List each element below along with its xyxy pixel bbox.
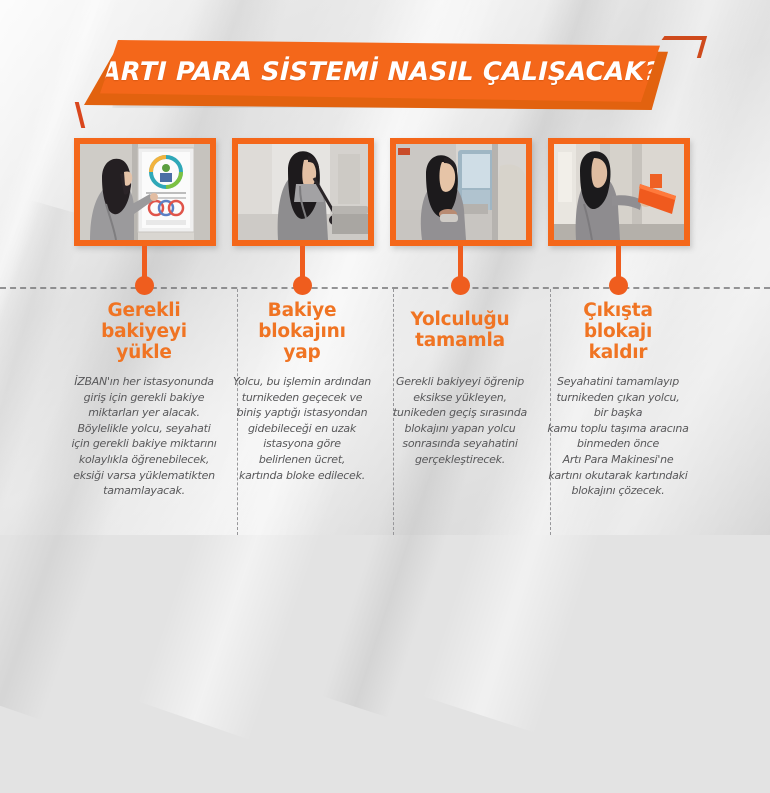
step-column-2: Bakiye blokajını yap Yolcu, bu işlemin a…: [224, 0, 380, 535]
connector-dot-1: [135, 276, 154, 295]
step-heading-line: Bakiye: [224, 300, 380, 321]
step-heading-line: Gerekli: [66, 300, 222, 321]
step-heading-line: yap: [224, 342, 380, 363]
step-heading-4: Çıkışta blokajı kaldır: [540, 300, 696, 363]
woman-at-ticket-machine-icon: [554, 144, 684, 240]
step-heading-line: Yolculuğu: [382, 309, 538, 330]
step-column-4: Çıkışta blokajı kaldır Seyahatini tamaml…: [540, 0, 696, 535]
step-heading-line: kaldır: [540, 342, 696, 363]
step-body-line: biniş yaptığı istasyondan: [225, 405, 379, 421]
step-body-line: Seyahatini tamamlayıp: [541, 374, 695, 390]
step-photo-card-4: [548, 138, 690, 246]
step-body-line: kamu toplu taşıma aracına: [541, 421, 695, 437]
step-body-line: giriş için gerekli bakiye: [67, 390, 221, 406]
step-column-3: Yolculuğu tamamla Gerekli bakiyeyi öğren…: [382, 0, 538, 535]
step-heading-line: tamamla: [382, 330, 538, 351]
step-column-1: Gerekli bakiyeyi yükle İZBAN'ın her ista…: [66, 0, 222, 535]
step-heading-1: Gerekli bakiyeyi yükle: [66, 300, 222, 363]
step-photo-card-3: [390, 138, 532, 246]
step-body-4: Seyahatini tamamlayıp turnikeden çıkan y…: [541, 374, 695, 499]
step-photo-1: [80, 144, 210, 240]
step-body-line: bir başka: [541, 405, 695, 421]
step-photo-card-2: [232, 138, 374, 246]
step-body-line: Gerekli bakiyeyi öğrenip: [383, 374, 537, 390]
step-body-line: tamamlayacak.: [67, 483, 221, 499]
woman-walking-through-turnstile-icon: [238, 144, 368, 240]
step-body-line: eksiği varsa yüklematikten: [67, 468, 221, 484]
step-photo-3: [396, 144, 526, 240]
step-body-line: istasyona göre: [225, 436, 379, 452]
step-body-line: Artı Para Makinesi'ne: [541, 452, 695, 468]
step-body-line: kartında bloke edilecek.: [225, 468, 379, 484]
step-heading-line: blokajını: [224, 321, 380, 342]
step-body-line: kolaylıkla öğrenebilecek,: [67, 452, 221, 468]
step-body-line: İZBAN'ın her istasyonunda: [67, 374, 221, 390]
step-body-line: blokajını yapan yolcu: [383, 421, 537, 437]
step-heading-3: Yolculuğu tamamla: [382, 309, 538, 351]
step-body-line: Böylelikle yolcu, seyahati: [67, 421, 221, 437]
step-body-line: belirlenen ücret,: [225, 452, 379, 468]
connector-dot-3: [451, 276, 470, 295]
step-body-line: blokajını çözecek.: [541, 483, 695, 499]
step-body-line: turnikeden geçecek ve: [225, 390, 379, 406]
step-body-line: sonrasında seyahatini: [383, 436, 537, 452]
step-heading-line: Çıkışta: [540, 300, 696, 321]
step-body-line: Yolcu, bu işlemin ardından: [225, 374, 379, 390]
step-heading-line: blokajı: [540, 321, 696, 342]
step-body-line: gerçekleştirecek.: [383, 452, 537, 468]
step-photo-card-1: [74, 138, 216, 246]
step-heading-line: bakiyeyi: [66, 321, 222, 342]
step-photo-2: [238, 144, 368, 240]
step-body-line: eksikse yükleyen,: [383, 390, 537, 406]
step-body-3: Gerekli bakiyeyi öğrenip eksikse yükleye…: [383, 374, 537, 468]
step-body-line: kartını okutarak kartındaki: [541, 468, 695, 484]
connector-dot-2: [293, 276, 312, 295]
woman-seated-on-train-icon: [396, 144, 526, 240]
step-body-line: için gerekli bakiye miktarını: [67, 436, 221, 452]
step-photo-4: [554, 144, 684, 240]
step-body-line: miktarları yer alacak.: [67, 405, 221, 421]
step-heading-line: yükle: [66, 342, 222, 363]
woman-reading-station-poster-icon: [80, 144, 210, 240]
step-heading-2: Bakiye blokajını yap: [224, 300, 380, 363]
connector-dot-4: [609, 276, 628, 295]
step-body-line: turnikeden çıkan yolcu,: [541, 390, 695, 406]
step-body-2: Yolcu, bu işlemin ardından turnikeden ge…: [225, 374, 379, 483]
step-body-line: tunikeden geçiş sırasında: [383, 405, 537, 421]
step-body-line: binmeden önce: [541, 436, 695, 452]
step-body-line: gidebileceği en uzak: [225, 421, 379, 437]
step-body-1: İZBAN'ın her istasyonunda giriş için ger…: [67, 374, 221, 499]
